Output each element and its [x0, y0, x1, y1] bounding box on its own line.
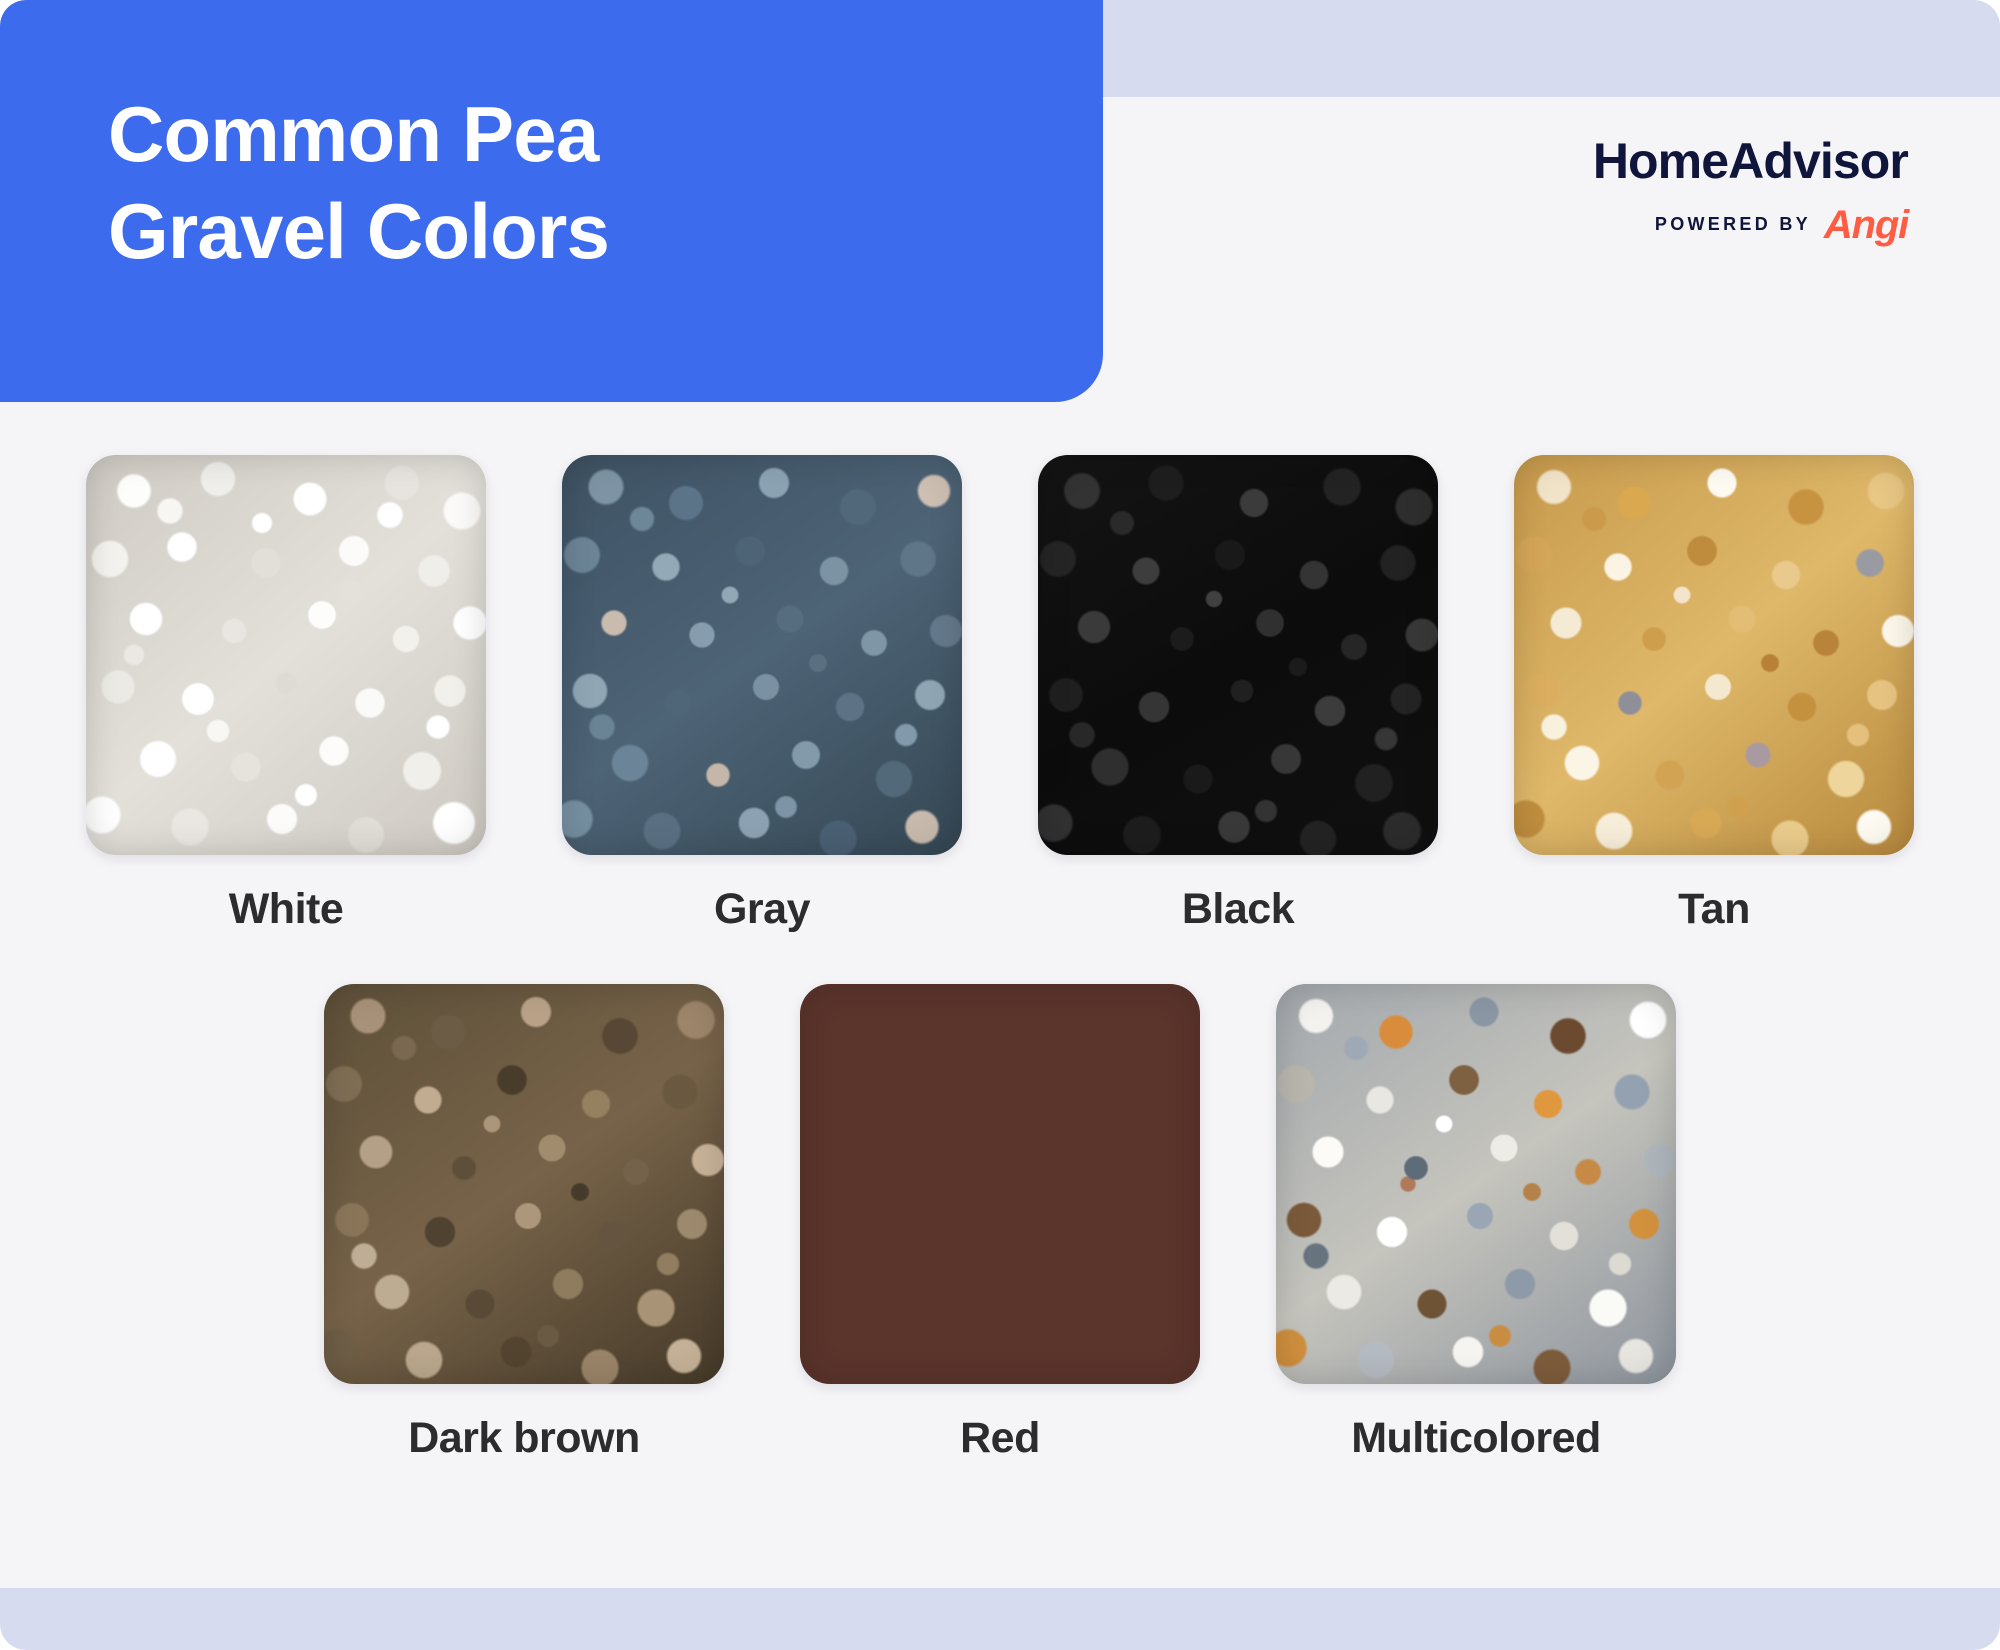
- gravel-image-tan: [1514, 455, 1914, 855]
- brand-name: HomeAdvisor: [1593, 136, 1908, 186]
- gravel-row-2: Dark brown Red Multicolored: [0, 984, 2000, 1463]
- gravel-image-black: [1038, 455, 1438, 855]
- gravel-image-white: [86, 455, 486, 855]
- header-panel: Common Pea Gravel Colors: [0, 0, 1103, 402]
- page-title: Common Pea Gravel Colors: [108, 86, 968, 279]
- gravel-swatch-multicolored: Multicolored: [1276, 984, 1676, 1463]
- gravel-label-black: Black: [1038, 885, 1438, 934]
- gravel-label-multicolored: Multicolored: [1276, 1414, 1676, 1463]
- bottom-accent-band: [0, 1588, 2000, 1650]
- gravel-label-gray: Gray: [562, 885, 962, 934]
- gravel-swatch-black: Black: [1038, 455, 1438, 934]
- gravel-label-dark-brown: Dark brown: [324, 1414, 724, 1463]
- gravel-image-gray: [562, 455, 962, 855]
- gravel-label-tan: Tan: [1514, 885, 1914, 934]
- brand-angi-wordmark: Angi: [1824, 205, 1908, 245]
- brand-logo: HomeAdvisor POWERED BY Angi: [1593, 136, 1908, 244]
- gravel-image-red: [800, 984, 1200, 1384]
- brand-powered-by-row: POWERED BY Angi: [1593, 204, 1908, 244]
- brand-powered-by-label: POWERED BY: [1655, 214, 1811, 235]
- gravel-row-1: White Gray Black Tan: [0, 455, 2000, 934]
- gravel-swatch-red: Red: [800, 984, 1200, 1463]
- gravel-swatch-tan: Tan: [1514, 455, 1914, 934]
- gravel-image-multicolored: [1276, 984, 1676, 1384]
- gravel-label-white: White: [86, 885, 486, 934]
- gravel-image-dark-brown: [324, 984, 724, 1384]
- gravel-color-grid: White Gray Black Tan Dark brown: [0, 455, 2000, 1463]
- infographic-canvas: Common Pea Gravel Colors HomeAdvisor POW…: [0, 0, 2000, 1650]
- gravel-swatch-gray: Gray: [562, 455, 962, 934]
- gravel-swatch-white: White: [86, 455, 486, 934]
- gravel-swatch-dark-brown: Dark brown: [324, 984, 724, 1463]
- gravel-label-red: Red: [800, 1414, 1200, 1463]
